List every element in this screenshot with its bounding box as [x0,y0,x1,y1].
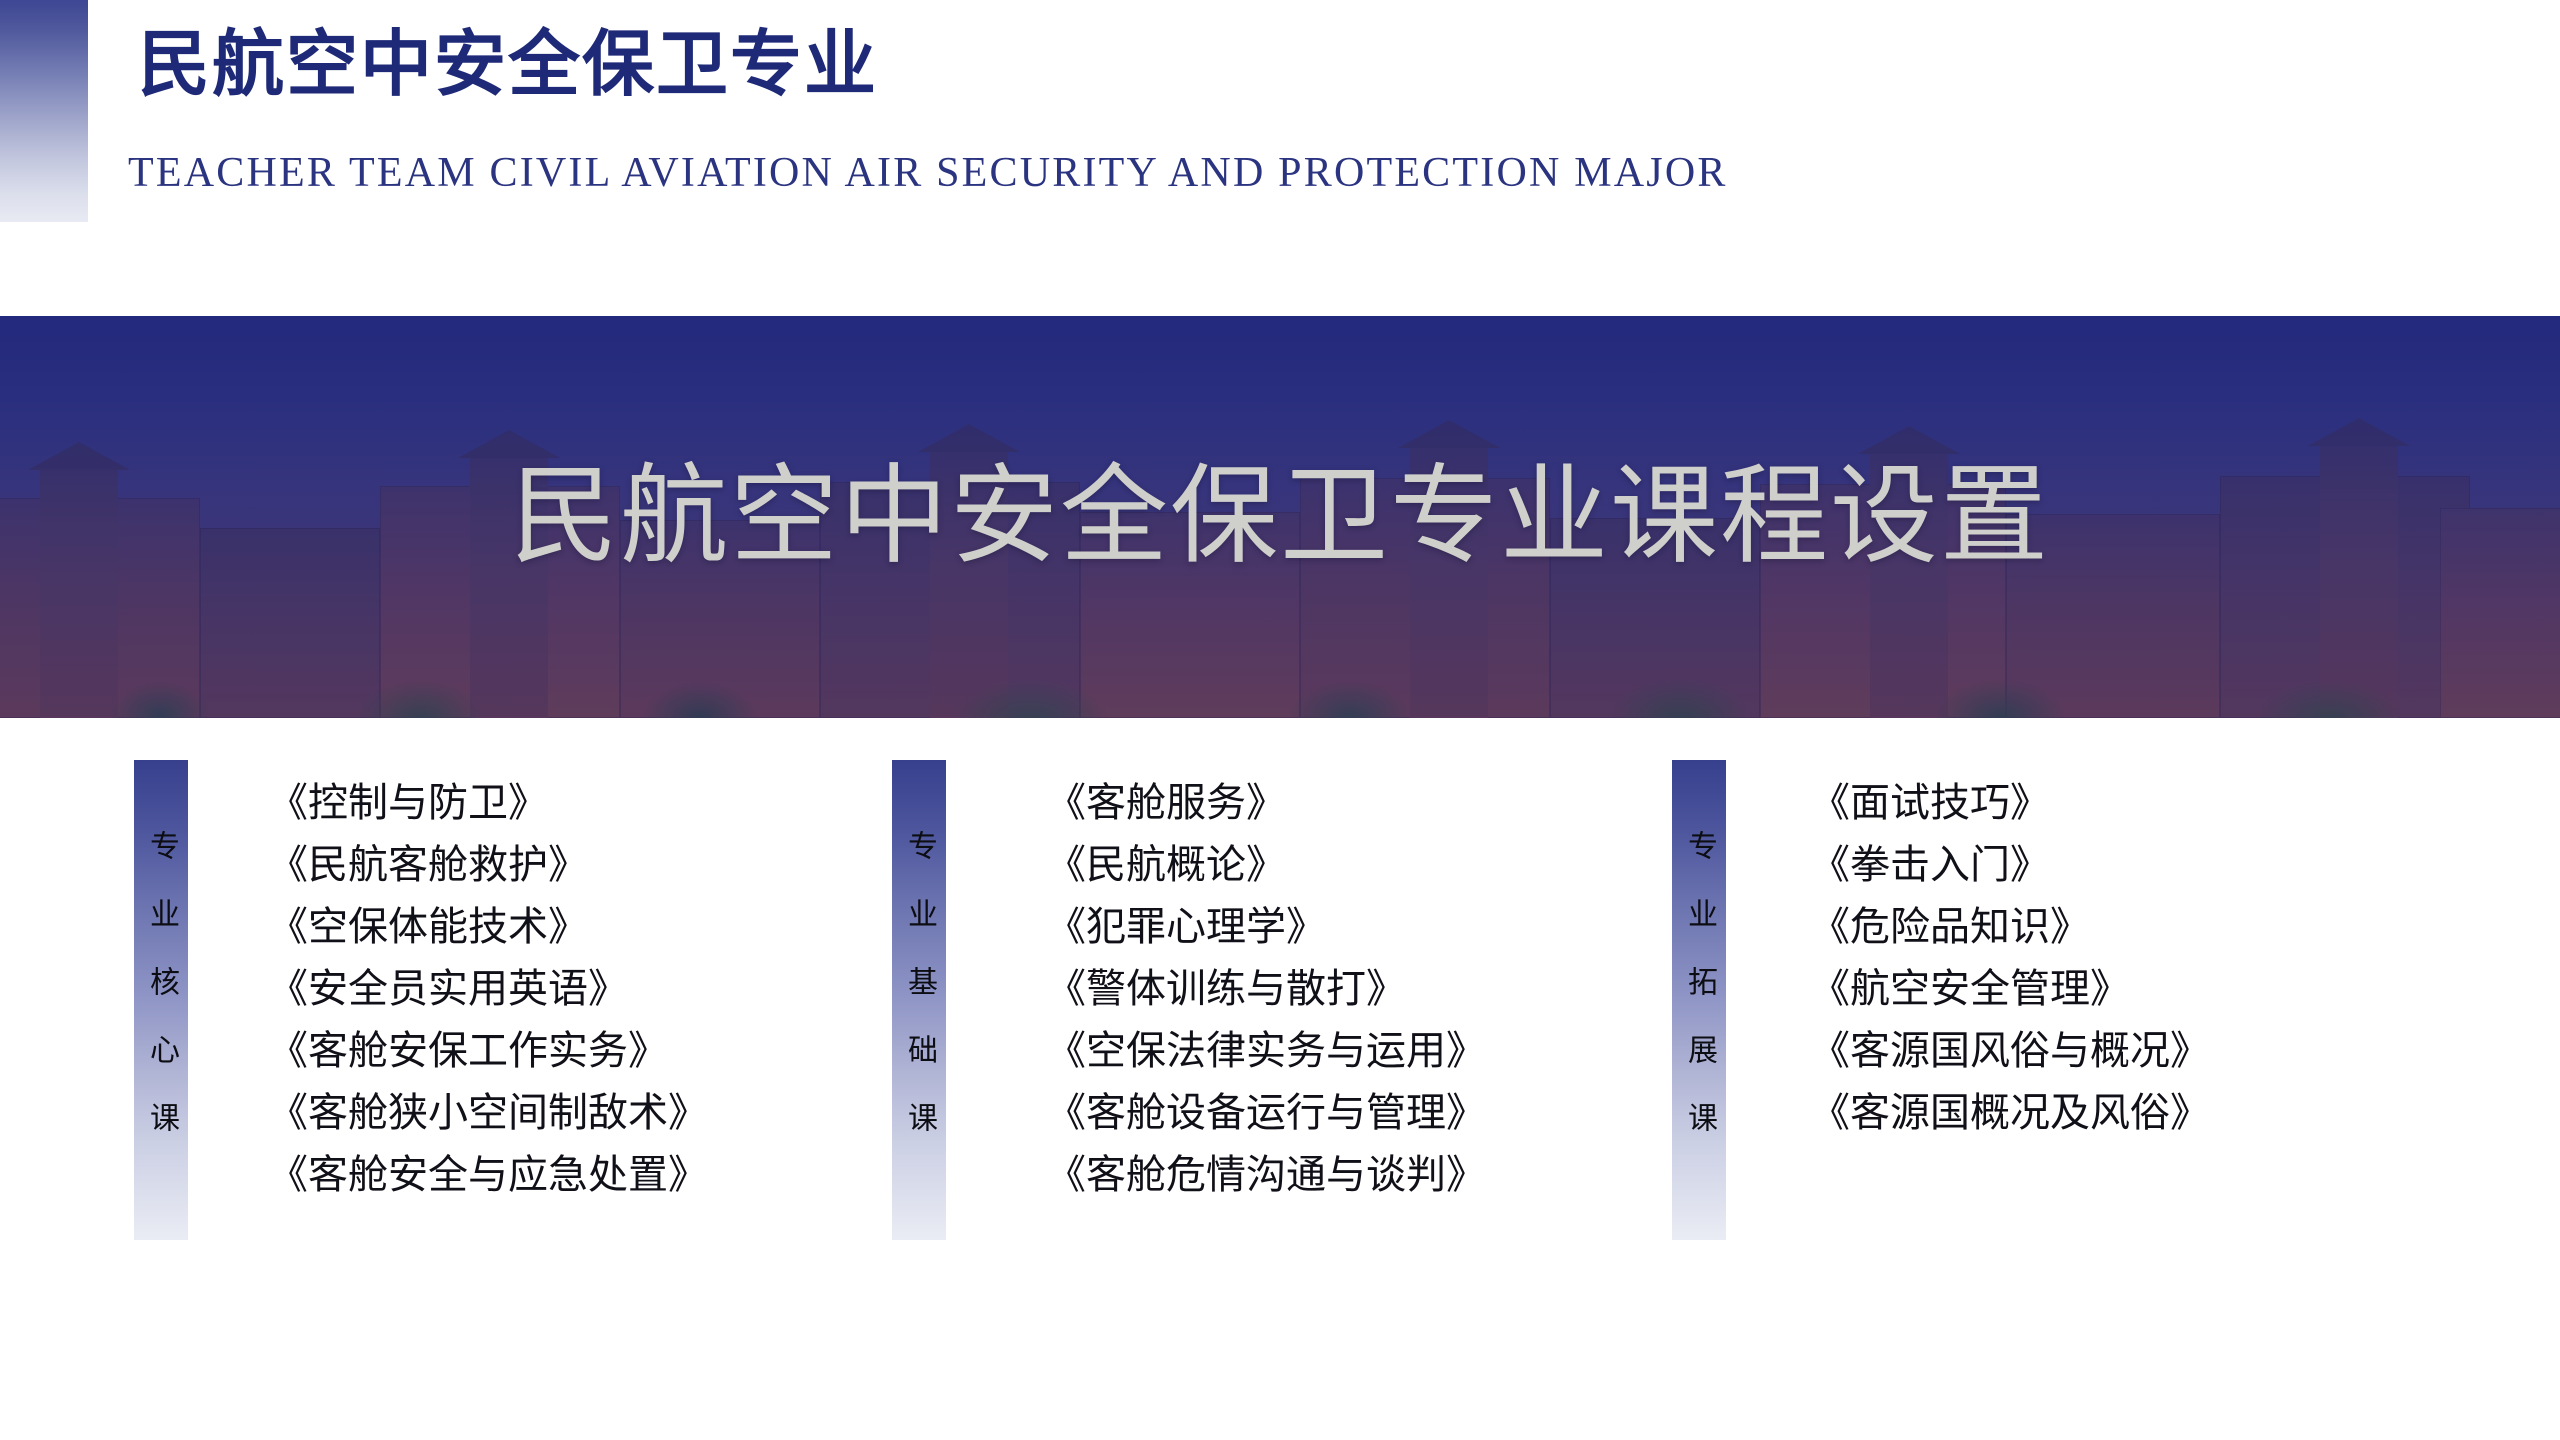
category-label-core: 专业核心课 [146,770,176,1230]
course-item: 《警体训练与散打》 [1046,958,1486,1020]
course-item: 《民航客舱救护》 [268,834,708,896]
course-list-core: 《控制与防卫》 《民航客舱救护》 《空保体能技术》 《安全员实用英语》 《客舱安… [268,772,708,1206]
course-item: 《客舱危情沟通与谈判》 [1046,1144,1486,1206]
course-item: 《客舱安全与应急处置》 [268,1144,708,1206]
category-label-extension: 专业拓展课 [1684,770,1714,1230]
course-item: 《客舱服务》 [1046,772,1486,834]
course-item: 《客源国风俗与概况》 [1810,1020,2210,1082]
course-item: 《客舱安保工作实务》 [268,1020,708,1082]
course-item: 《面试技巧》 [1810,772,2210,834]
course-item: 《控制与防卫》 [268,772,708,834]
course-columns: 专业核心课 《控制与防卫》 《民航客舱救护》 《空保体能技术》 《安全员实用英语… [0,760,2560,1380]
course-item: 《民航概论》 [1046,834,1486,896]
course-column-extension: 专业拓展课 《面试技巧》 《拳击入门》 《危险品知识》 《航空安全管理》 《客源… [1672,760,2210,1240]
course-column-core: 专业核心课 《控制与防卫》 《民航客舱救护》 《空保体能技术》 《安全员实用英语… [134,760,708,1240]
banner-heading: 民航空中安全保卫专业课程设置 [0,316,2560,718]
course-item: 《危险品知识》 [1810,896,2210,958]
campus-banner: 民航空中安全保卫专业课程设置 [0,316,2560,718]
course-item: 《客舱设备运行与管理》 [1046,1082,1486,1144]
course-list-foundation: 《客舱服务》 《民航概论》 《犯罪心理学》 《警体训练与散打》 《空保法律实务与… [1046,772,1486,1206]
category-bar-core: 专业核心课 [134,760,188,1240]
category-label-foundation: 专业基础课 [904,770,934,1230]
course-item: 《航空安全管理》 [1810,958,2210,1020]
category-bar-foundation: 专业基础课 [892,760,946,1240]
course-item: 《空保法律实务与运用》 [1046,1020,1486,1082]
course-item: 《客源国概况及风俗》 [1810,1082,2210,1144]
course-item: 《拳击入门》 [1810,834,2210,896]
course-list-extension: 《面试技巧》 《拳击入门》 《危险品知识》 《航空安全管理》 《客源国风俗与概况… [1810,772,2210,1144]
course-item: 《客舱狭小空间制敌术》 [268,1082,708,1144]
header-accent-bar [0,0,88,222]
course-column-foundation: 专业基础课 《客舱服务》 《民航概论》 《犯罪心理学》 《警体训练与散打》 《空… [892,760,1486,1240]
page-title: 民航空中安全保卫专业 [138,22,878,106]
category-bar-extension: 专业拓展课 [1672,760,1726,1240]
page-header: 民航空中安全保卫专业 TEACHER TEAM CIVIL AVIATION A… [0,0,2560,300]
course-item: 《安全员实用英语》 [268,958,708,1020]
course-item: 《犯罪心理学》 [1046,896,1486,958]
course-item: 《空保体能技术》 [268,896,708,958]
page-subtitle-english: TEACHER TEAM CIVIL AVIATION AIR SECURITY… [128,150,1728,196]
